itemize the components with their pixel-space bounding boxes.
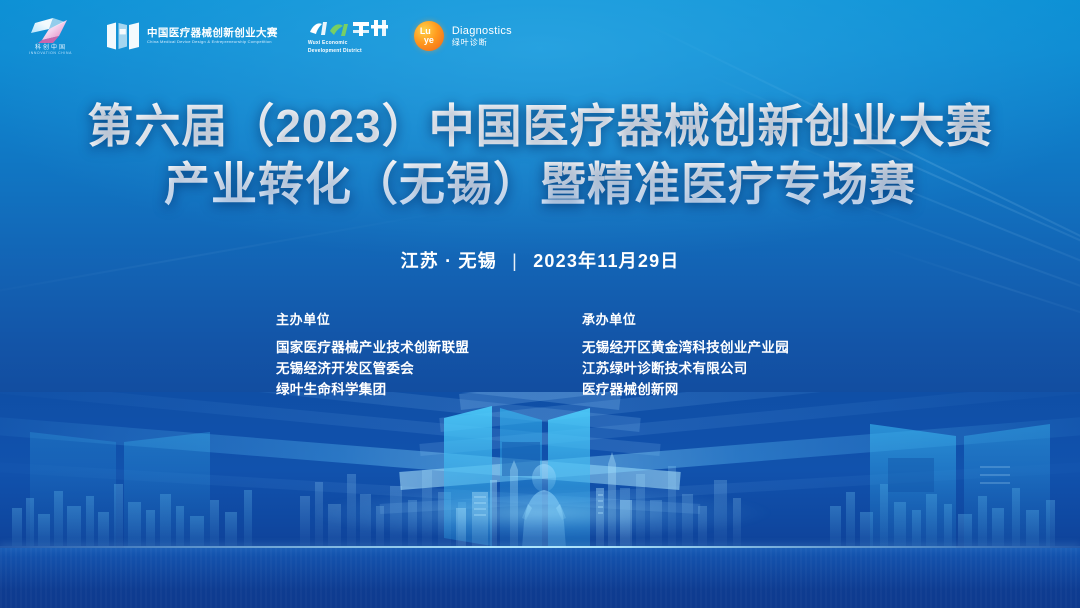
logo-wuxi-economic-development-district[interactable]: Wuxi Economic Development District	[308, 18, 392, 55]
title-line-1: 第六届（2023）中国医疗器械创新创业大赛	[87, 100, 992, 152]
logo-innovation-china-en: INNOVATION CHINA	[30, 52, 73, 55]
organizer-host-item-1: 国家医疗器械产业技术创新联盟	[276, 337, 498, 358]
bird-wing-icon	[29, 16, 73, 44]
logo-wuxi-en-line1: Wuxi Economic	[308, 40, 348, 46]
date-separator: |	[512, 251, 518, 272]
title-line-2: 产业转化（无锡）暨精准医疗专场赛	[0, 155, 1080, 213]
logo-luye-diagnostics[interactable]: Lu ye Diagnostics 绿叶诊断	[414, 21, 512, 51]
logo-china-medical-device-competition[interactable]: 中国医疗器械创新创业大赛 China Medical Device Design…	[106, 21, 278, 51]
luye-mark-bottom: ye	[424, 36, 434, 45]
center-glow	[230, 478, 850, 548]
organizer-column-host: 主办单位 国家医疗器械产业技术创新联盟 无锡经济开发区管委会 绿叶生命科学集团	[276, 309, 498, 400]
organizers-section: 主办单位 国家医疗器械产业技术创新联盟 无锡经济开发区管委会 绿叶生命科学集团 …	[0, 309, 1080, 400]
organizer-column-coorganizer: 承办单位 无锡经开区黄金湾科技创业产业园 江苏绿叶诊断技术有限公司 医疗器械创新…	[582, 309, 804, 400]
logo-innovation-china[interactable]: 科创中国 INNOVATION CHINA	[18, 16, 84, 56]
logo-luye-zh: 绿叶诊断	[452, 39, 512, 47]
left-structure-illustration	[0, 406, 220, 556]
city-scene-illustration	[0, 392, 1080, 608]
organizer-heading-coorganizer: 承办单位	[582, 309, 804, 328]
logo-cmdc-zh: 中国医疗器械创新创业大赛	[147, 28, 278, 39]
organizer-coorganizer-item-2: 江苏绿叶诊断技术有限公司	[582, 358, 804, 379]
logo-wuxi-en-line2: Development District	[308, 48, 362, 54]
calligraphy-icon	[308, 18, 392, 38]
event-date: 2023年11月29日	[533, 251, 679, 271]
event-date-location: 江苏 · 无锡 | 2023年11月29日	[0, 247, 1080, 273]
ground-reflection-texture	[0, 548, 1080, 608]
organizer-heading-host: 主办单位	[276, 309, 498, 328]
organizer-coorganizer-item-3: 医疗器械创新网	[582, 379, 804, 400]
sponsor-logo-bar: 科创中国 INNOVATION CHINA 中国医疗器械创新创业大赛 China…	[0, 0, 1080, 72]
logo-luye-en: Diagnostics	[452, 26, 512, 37]
organizer-host-item-3: 绿叶生命科学集团	[276, 379, 498, 400]
open-gate-icon	[106, 21, 140, 51]
event-location: 江苏 · 无锡	[401, 251, 497, 271]
luye-circle-icon: Lu ye	[414, 21, 444, 51]
event-poster: 科创中国 INNOVATION CHINA 中国医疗器械创新创业大赛 China…	[0, 0, 1080, 608]
organizer-coorganizer-item-1: 无锡经开区黄金湾科技创业产业园	[582, 337, 804, 358]
logo-cmdc-en: China Medical Device Design & Entreprene…	[147, 40, 273, 44]
right-structure-illustration	[860, 406, 1080, 556]
organizer-host-item-2: 无锡经济开发区管委会	[276, 358, 498, 379]
page-title: 第六届（2023）中国医疗器械创新创业大赛 产业转化（无锡）暨精准医疗专场赛	[0, 97, 1080, 213]
